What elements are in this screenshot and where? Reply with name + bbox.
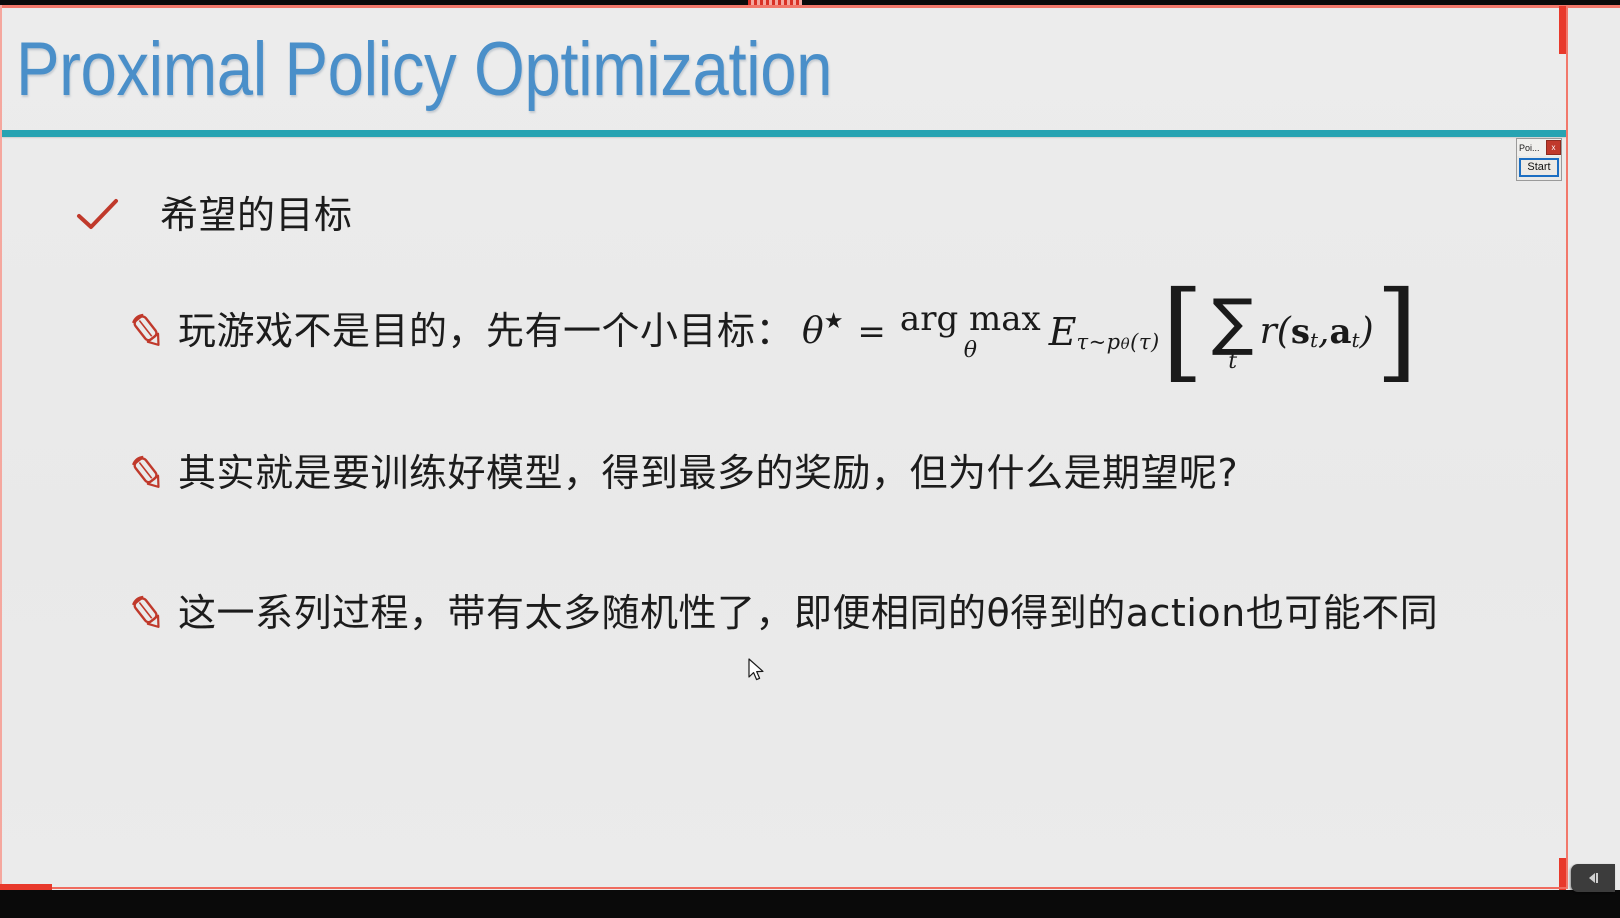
title-underline-rule: [2, 130, 1566, 137]
bullet-label-1: 希望的目标: [160, 192, 353, 238]
chevron-left-icon: [1584, 871, 1602, 885]
page-title: Proximal Policy Optimization: [16, 22, 832, 118]
formula-argmax: arg max θ: [900, 302, 1041, 362]
formula-bracket-open: [: [1162, 286, 1204, 378]
annotation-frame-top: [0, 5, 1620, 8]
bullet-row-4: 这一系列过程，带有太多随机性了，即便相同的θ得到的action也可能不同: [130, 590, 1438, 636]
bullet-row-1: 希望的目标: [74, 192, 353, 238]
formula-expectation-subscript: τ~pθ(τ): [1076, 330, 1159, 354]
formula-bracket-close: ]: [1376, 286, 1418, 378]
formula-summation: ∑ t: [1212, 291, 1254, 373]
formula-equals: =: [857, 312, 886, 352]
bullet-row-2: 玩游戏不是目的，先有一个小目标：: [130, 308, 794, 354]
formula-expectation-sub-theta: θ: [1121, 335, 1131, 353]
slide-body: 希望的目标 玩游戏不是目的，先有一个小目标：: [2, 140, 1566, 887]
formula-state-subscript: t: [1310, 328, 1318, 352]
formula-expectation-sub-tail: (τ): [1130, 330, 1160, 354]
bottom-screen-bar: [0, 890, 1620, 918]
pencil-icon: [130, 593, 164, 633]
slide-surface: Proximal Policy Optimization 希望的目标: [2, 8, 1566, 887]
formula-argmax-label: arg max: [900, 302, 1041, 336]
formula-action-subscript: t: [1352, 328, 1360, 352]
pencil-icon: [130, 311, 164, 351]
formula-expectation-sub-main: τ~p: [1076, 330, 1120, 354]
floating-recorder-window[interactable]: Poi... x Start: [1516, 138, 1562, 181]
floating-window-body: Start: [1516, 156, 1562, 181]
start-button[interactable]: Start: [1519, 158, 1559, 177]
formula-state: s: [1291, 312, 1310, 352]
math-formula: θ★ = arg max θ Eτ~pθ(τ) [ ∑ t r(st, at) …: [802, 286, 1420, 378]
floating-window-title: Poi...: [1519, 143, 1540, 153]
annotation-frame-right: [1566, 5, 1568, 889]
formula-argmax-subscript: θ: [964, 340, 977, 362]
collapse-panel-tab[interactable]: [1571, 864, 1615, 892]
formula-paren-open: (: [1277, 311, 1291, 352]
formula-star: ★: [824, 309, 844, 334]
formula-theta: θ: [802, 311, 824, 352]
formula-action: a: [1330, 312, 1352, 352]
pencil-icon: [130, 453, 164, 493]
screen-root: Proximal Policy Optimization 希望的目标: [0, 0, 1620, 918]
bullet-label-4: 这一系列过程，带有太多随机性了，即便相同的θ得到的action也可能不同: [178, 590, 1438, 636]
formula-paren-close: ): [1360, 311, 1374, 352]
bullet-label-2: 玩游戏不是目的，先有一个小目标：: [178, 308, 794, 354]
annotation-resize-handle-top-right[interactable]: [1559, 6, 1566, 54]
annotation-frame-bottom: [0, 887, 1566, 889]
formula-sum-glyph: ∑: [1212, 291, 1254, 353]
formula-reward: r: [1260, 311, 1277, 352]
formula-comma: ,: [1318, 311, 1329, 352]
formula-expectation: E: [1049, 310, 1077, 354]
formula-sum-subscript: t: [1228, 351, 1237, 373]
bullet-label-3: 其实就是要训练好模型，得到最多的奖励，但为什么是期望呢?: [178, 450, 1238, 496]
annotation-resize-handle-bottom-right[interactable]: [1559, 858, 1566, 890]
floating-window-titlebar[interactable]: Poi... x: [1516, 138, 1562, 156]
close-icon[interactable]: x: [1546, 140, 1561, 155]
annotation-frame-left: [0, 5, 2, 889]
check-icon: [74, 192, 120, 238]
bullet-row-3: 其实就是要训练好模型，得到最多的奖励，但为什么是期望呢?: [130, 450, 1238, 496]
